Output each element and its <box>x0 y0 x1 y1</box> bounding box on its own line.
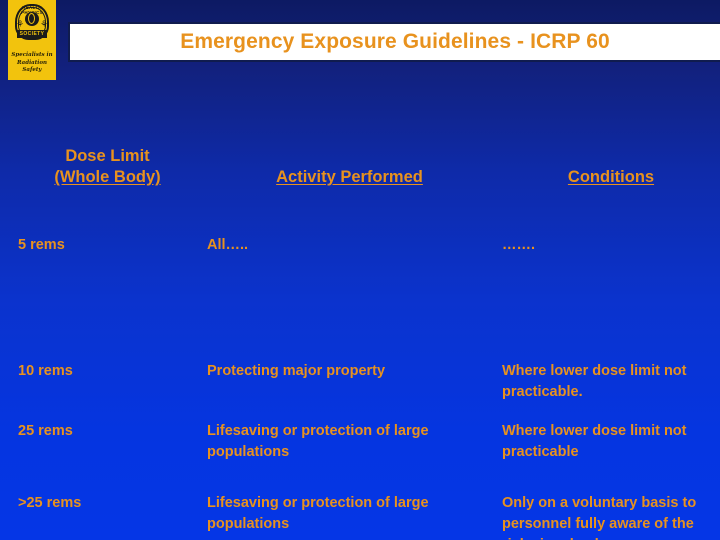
cell-conditions: Only on a voluntary basis to personnel f… <box>502 493 720 540</box>
cell-dose-limit: >25 rems <box>18 493 198 514</box>
cell-dose-limit: 25 rems <box>18 421 198 442</box>
cell-conditions: Where lower dose limit not practicable. <box>502 361 720 403</box>
cell-dose-limit: 10 rems <box>18 361 198 382</box>
cell-activity: Lifesaving or protection of large popula… <box>207 421 492 463</box>
globe-icon <box>25 12 39 26</box>
logo-tagline-line1: Specialists in <box>8 52 56 60</box>
badge-band-text: SOCIETY <box>17 30 47 38</box>
title-bar: Emergency Exposure Guidelines - ICRP 60 <box>68 22 720 62</box>
cell-dose-limit: 5 rems <box>18 235 198 256</box>
trefoil-left-icon: ⚘ <box>16 20 24 28</box>
page-title: Emergency Exposure Guidelines - ICRP 60 <box>180 30 610 54</box>
slide-canvas: HEALTH PHYSICS ⚘ ⚘ SOCIETY Specialists i… <box>0 0 720 540</box>
health-physics-society-logo: HEALTH PHYSICS ⚘ ⚘ SOCIETY Specialists i… <box>8 0 56 80</box>
table-row: 5 rems All….. ……. <box>0 140 720 206</box>
cell-activity: Lifesaving or protection of large popula… <box>207 493 492 535</box>
logo-tagline-line2: Radiation Safety <box>8 60 56 75</box>
cell-activity: All….. <box>207 235 492 256</box>
badge-shape: HEALTH PHYSICS ⚘ ⚘ SOCIETY <box>13 3 51 47</box>
cell-conditions: Where lower dose limit not practicable <box>502 421 720 463</box>
guidelines-table: Dose Limit (Whole Body) Activity Perform… <box>0 140 720 206</box>
logo-tagline: Specialists in Radiation Safety <box>8 52 56 75</box>
trefoil-right-icon: ⚘ <box>40 20 48 28</box>
cell-activity: Protecting major property <box>207 361 492 382</box>
cell-conditions: ……. <box>502 235 720 256</box>
